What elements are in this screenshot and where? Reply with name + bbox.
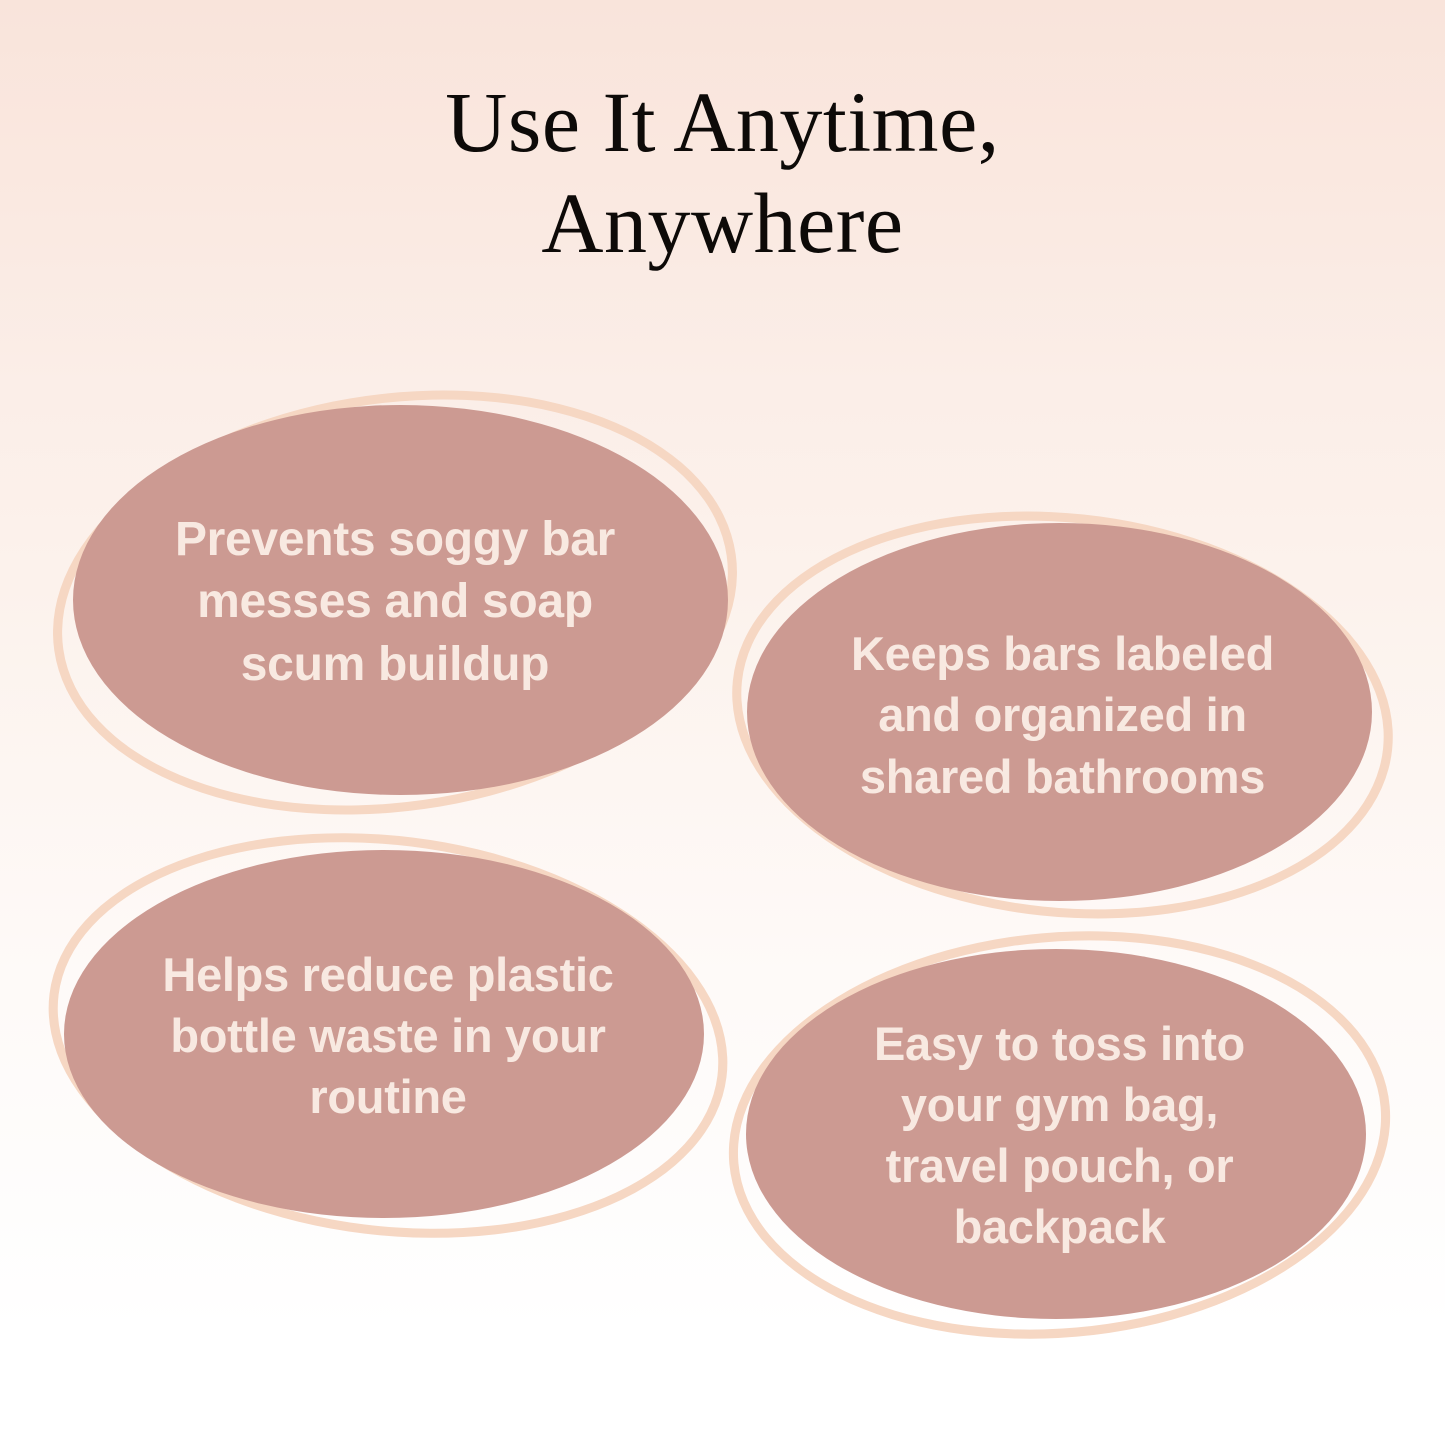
benefit-bubble-label: Helps reduce plastic bottle waste in you… [52,838,724,1233]
benefit-bubble-reduce-plastic-waste: Helps reduce plastic bottle waste in you… [52,838,724,1233]
benefit-bubble-easy-to-toss: Easy to toss into your gym bag, travel p… [732,935,1387,1335]
page-title-line-1: Use It Anytime, [0,72,1445,173]
benefit-bubble-prevents-soggy-bar: Prevents soggy bar messes and soap scum … [55,395,735,810]
benefit-bubble-label: Keeps bars labeled and organized in shar… [735,515,1390,915]
page-title-line-2: Anywhere [0,173,1445,274]
page-title: Use It Anytime, Anywhere [0,72,1445,275]
infographic-canvas: Use It Anytime, Anywhere Prevents soggy … [0,0,1445,1445]
benefit-bubble-label: Easy to toss into your gym bag, travel p… [732,935,1387,1335]
benefit-bubble-label: Prevents soggy bar messes and soap scum … [55,395,735,810]
benefit-bubble-keeps-bars-labeled: Keeps bars labeled and organized in shar… [735,515,1390,915]
